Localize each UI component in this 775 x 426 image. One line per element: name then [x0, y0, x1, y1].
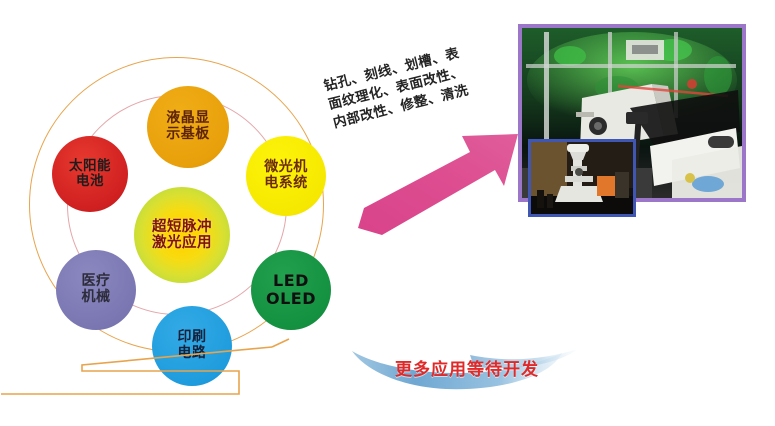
process-text-block: 钻孔、刻线、划槽、表 面纹理化、表面改性、 内部改性、修整、清洗: [322, 26, 545, 134]
bubble-lcd-line2: 示基板: [166, 127, 210, 143]
bubble-center-line1: 超短脉冲: [152, 219, 212, 235]
bubble-led-line2: OLED: [266, 290, 316, 308]
bubble-center-ultrafast-laser: 超短脉冲 激光应用: [134, 187, 230, 283]
photo-microscope: [528, 139, 636, 217]
bubble-medical: 医疗 机械: [56, 250, 136, 330]
ribbon-label: 更多应用等待开发: [372, 355, 562, 380]
bubble-medical-line1: 医疗: [82, 274, 111, 290]
figure-canvas: 太阳能 电池 液晶显 示基板 微光机 电系统 LED OLED 印刷 电路 医疗…: [0, 0, 775, 426]
bubble-solar-line2: 电池: [76, 174, 104, 189]
bubble-mems-line2: 电系统: [264, 176, 308, 192]
bubble-medical-line2: 机械: [82, 290, 111, 306]
bubble-solar-line1: 太阳能: [69, 159, 111, 174]
callout-leader-line: [0, 337, 374, 395]
pink-arrow: [358, 132, 523, 237]
bubble-mems-line1: 微光机: [264, 160, 308, 176]
bubble-lcd: 液晶显 示基板: [147, 86, 229, 168]
bubble-solar: 太阳能 电池: [52, 136, 128, 212]
bubble-led-oled: LED OLED: [251, 250, 331, 330]
bubble-center-line2: 激光应用: [152, 235, 212, 251]
bubble-mems: 微光机 电系统: [246, 136, 326, 216]
bubble-led-line1: LED: [273, 272, 309, 290]
bubble-lcd-line1: 液晶显: [166, 111, 210, 127]
